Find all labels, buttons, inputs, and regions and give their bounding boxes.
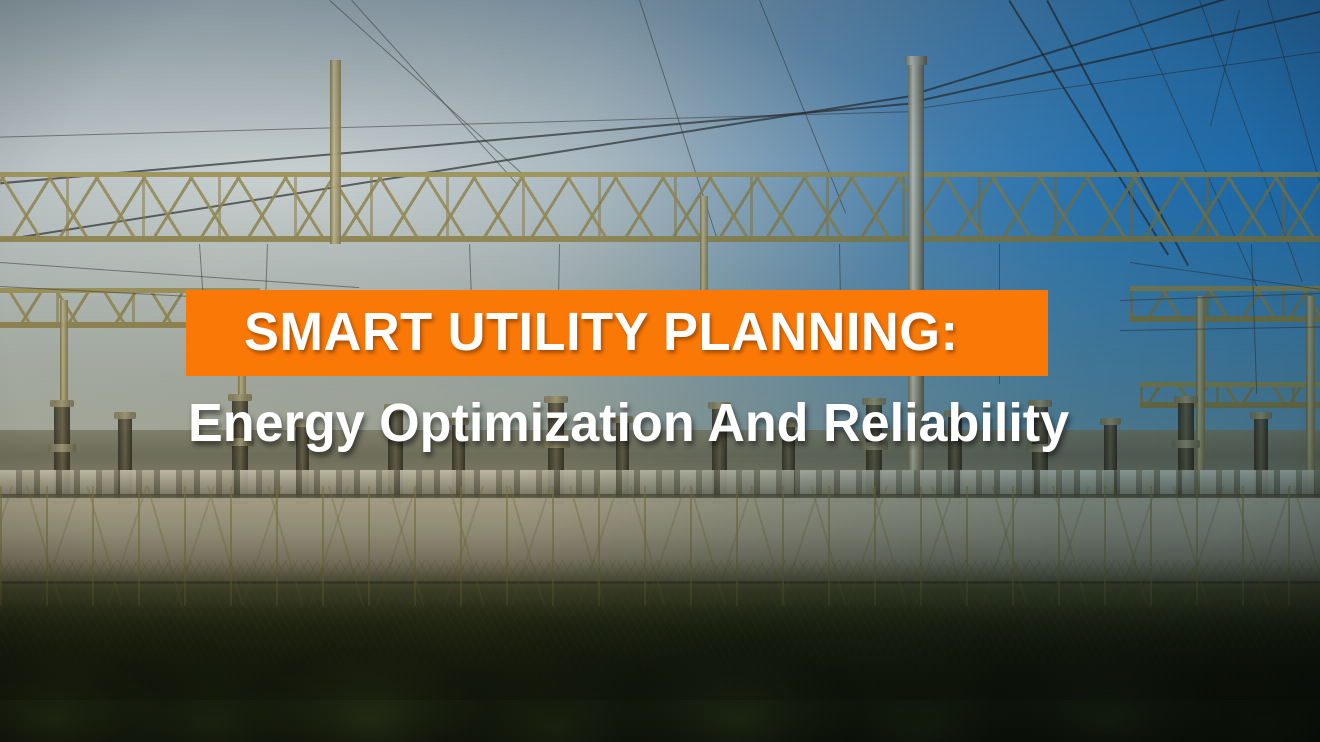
hero-headline: SMART UTILITY PLANNING: xyxy=(244,304,995,360)
headline-orange-banner: SMART UTILITY PLANNING: xyxy=(186,290,1048,376)
hero-subheadline: Energy Optimization And Reliability xyxy=(188,394,1069,452)
hero-banner: SMART UTILITY PLANNING: Energy Optimizat… xyxy=(0,0,1320,742)
hero-title-block: SMART UTILITY PLANNING: Energy Optimizat… xyxy=(186,290,1101,452)
